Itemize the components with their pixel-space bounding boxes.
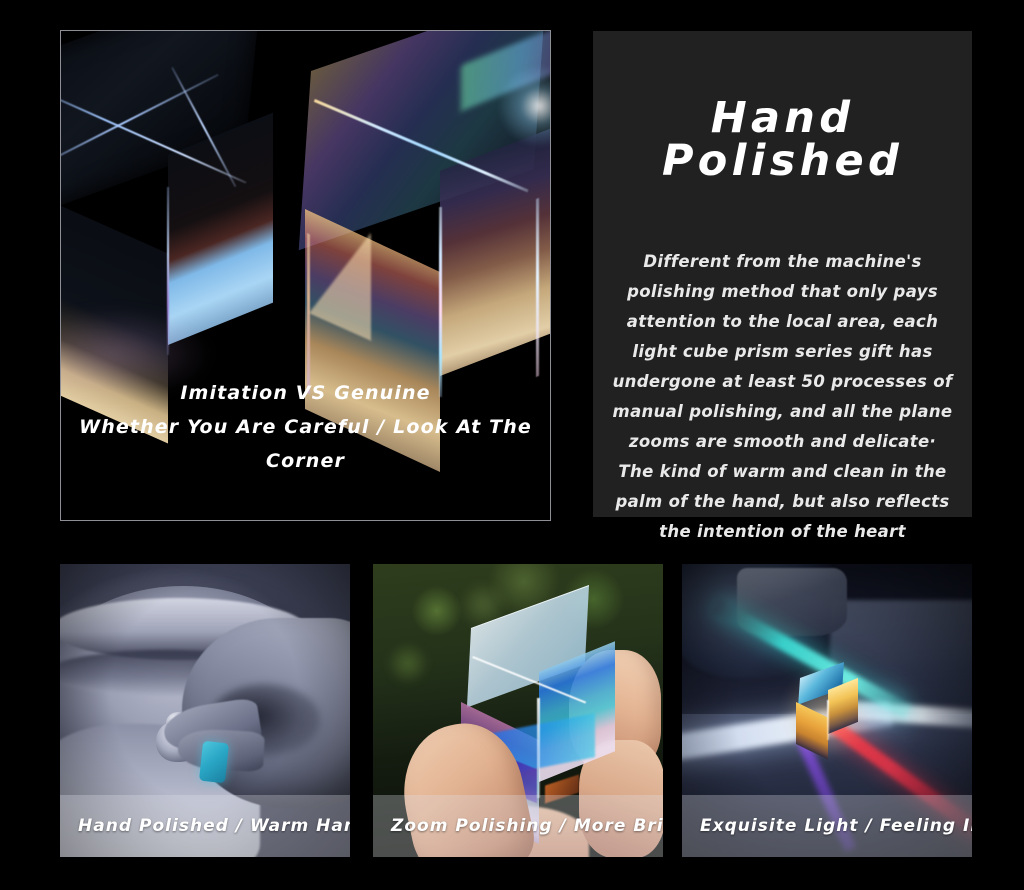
- panel-description: Different from the machine's polishing m…: [605, 247, 960, 547]
- genuine-cube: [291, 41, 551, 421]
- caption-band: Zoom Polishing / More Bright: [373, 795, 663, 857]
- cube-bottom-left-edge: [307, 233, 310, 394]
- cube-sparkle: [496, 63, 551, 149]
- caption-line-1: Imitation VS Genuine: [61, 376, 550, 410]
- caption-band: Exquisite Light / Feeling Intention: [682, 795, 972, 857]
- hand-polished-panel: Hand Polished Different from the machine…: [593, 31, 972, 517]
- hand-polished-warm-hands-photo: Hand Polished / Warm Hands: [60, 564, 350, 857]
- zoom-polishing-more-bright-photo: Zoom Polishing / More Bright: [373, 564, 663, 857]
- imitation-cube: [60, 59, 291, 389]
- caption-line-2: Whether You Are Careful / Look At The Co…: [61, 410, 550, 478]
- imitation-vs-genuine-photo: Imitation VS Genuine Whether You Are Car…: [60, 30, 551, 521]
- product-infographic: { "page": { "background_color": "#000000…: [0, 0, 1024, 890]
- page-title: Hand Polished: [605, 97, 960, 183]
- caption-band: Hand Polished / Warm Hands: [60, 795, 350, 857]
- photo-caption: Imitation VS Genuine Whether You Are Car…: [61, 376, 550, 478]
- photo-caption: Zoom Polishing / More Bright: [373, 816, 663, 836]
- exquisite-light-feeling-intention-photo: Exquisite Light / Feeling Intention: [682, 564, 972, 857]
- cube-vertical-edge: [537, 698, 540, 798]
- photo-caption: Hand Polished / Warm Hands: [60, 816, 350, 836]
- photo-caption: Exquisite Light / Feeling Intention: [682, 816, 972, 836]
- cube-bottom-right-edge: [536, 198, 539, 377]
- cube-vertical-edge: [439, 207, 442, 397]
